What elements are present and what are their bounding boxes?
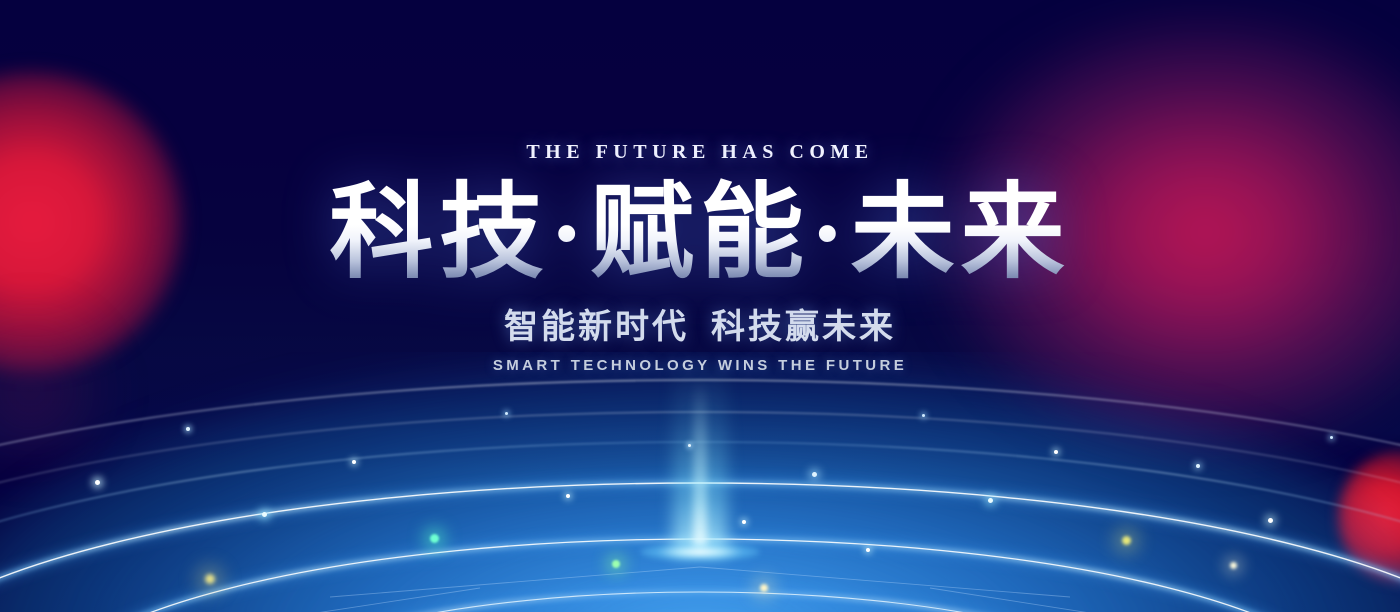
core-glow-icon	[640, 543, 760, 561]
subtitle-left: 智能新时代	[504, 308, 689, 346]
eyebrow-text: THE FUTURE HAS COME	[0, 142, 1400, 162]
stage-platform	[0, 352, 1400, 612]
light-beam-core-icon	[693, 380, 707, 550]
page-title: 科技·赋能·未来	[0, 178, 1400, 290]
subtitle-text: 智能新时代科技赢未来	[0, 310, 1400, 344]
subtitle-right: 科技赢未来	[711, 308, 896, 346]
banner-content: THE FUTURE HAS COME 科技·赋能·未来 智能新时代科技赢未来 …	[0, 0, 1400, 373]
tagline-text: SMART TECHNOLOGY WINS THE FUTURE	[0, 358, 1400, 373]
tech-banner: THE FUTURE HAS COME 科技·赋能·未来 智能新时代科技赢未来 …	[0, 0, 1400, 612]
